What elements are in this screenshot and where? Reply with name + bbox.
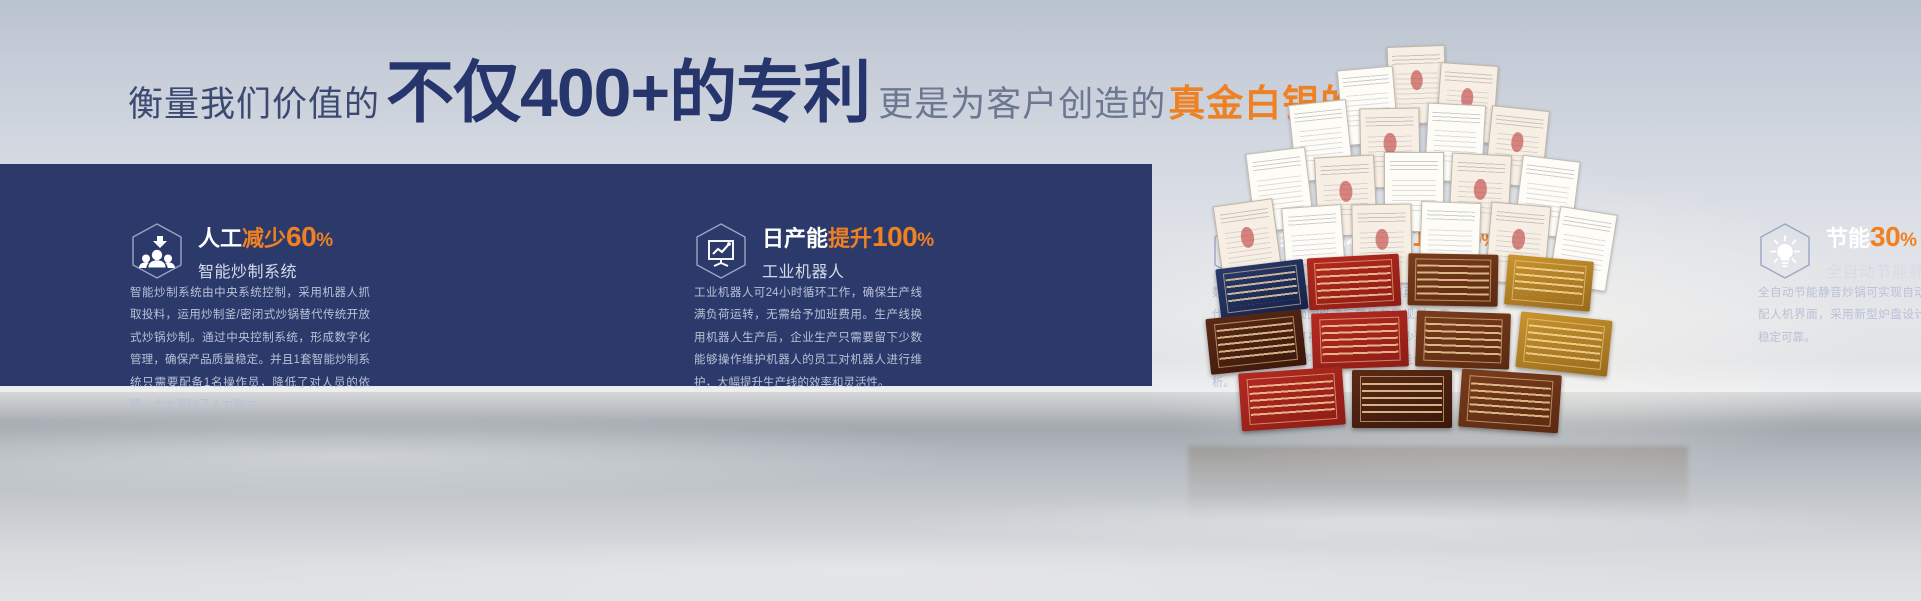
metric-number: 100 xyxy=(872,221,917,252)
feature-card-capacity: 日产能提升100% 工业机器人 工业机器人可24小时循环工作，确保生产线满负荷运… xyxy=(576,164,834,386)
award-plaque xyxy=(1352,370,1452,428)
award-plaque xyxy=(1458,369,1562,434)
feature-card-header: 节能30% 全自动节能静音炒锅 xyxy=(1758,220,1921,282)
feature-description: 全自动节能静音炒锅可实现自动控温控时，搭配人机界面，采用新型炉盘设计，操作简单、… xyxy=(1758,282,1921,349)
people-group-icon xyxy=(130,222,184,280)
award-plaque xyxy=(1205,309,1306,375)
certificate-and-award-plaque-wall: certificate-and-award-plaque-wall xyxy=(1188,46,1688,446)
metric-word: 提升 xyxy=(828,226,872,251)
headline-middle: 更是为客户创造的 xyxy=(878,76,1166,127)
metric-prefix: 人工 xyxy=(198,226,242,251)
award-plaque xyxy=(1504,254,1594,311)
award-plaque xyxy=(1311,310,1409,369)
metric-number: 60 xyxy=(286,221,316,252)
feature-card-text: 人工减少60% 智能炒制系统 xyxy=(198,220,333,282)
banner-stage: 衡量我们价值的 不仅400+的专利 更是为客户创造的 真金白银的效益 xyxy=(0,0,1921,601)
award-plaque xyxy=(1415,310,1511,369)
metric-word: 减少 xyxy=(242,226,286,251)
headline-emphasis: 不仅400+的专利 xyxy=(386,62,870,125)
page-title: 衡量我们价值的 不仅400+的专利 更是为客户创造的 真金白银的效益 xyxy=(128,62,1228,140)
feature-description: 工业机器人可24小时循环工作，确保生产线满负荷运转，无需给予加班费用。生产线换用… xyxy=(694,282,922,394)
award-plaque xyxy=(1307,254,1402,311)
lightbulb-icon xyxy=(1758,222,1812,280)
metric-number: 30 xyxy=(1870,221,1900,252)
feature-card-header: 日产能提升100% 工业机器人 xyxy=(694,220,934,282)
feature-metric: 日产能提升100% xyxy=(762,226,934,251)
feature-subtitle: 全自动节能静音炒锅 xyxy=(1826,258,1921,282)
award-plaque xyxy=(1238,366,1346,431)
feature-metric: 节能30% xyxy=(1826,226,1917,251)
feature-card-labor: 人工减少60% 智能炒制系统 智能炒制系统由中央系统控制，采用机器人抓取投料，运… xyxy=(0,164,288,386)
feature-subtitle: 工业机器人 xyxy=(762,258,934,282)
award-plaque xyxy=(1408,253,1499,307)
metric-prefix: 日产能 xyxy=(762,226,828,251)
chart-board-icon xyxy=(694,222,748,280)
metric-prefix: 节能 xyxy=(1826,226,1870,251)
feature-card-text: 日产能提升100% 工业机器人 xyxy=(762,220,934,282)
feature-metric: 人工减少60% xyxy=(198,226,333,251)
metric-unit: % xyxy=(1900,230,1917,251)
metric-unit: % xyxy=(917,230,934,251)
feature-subtitle: 智能炒制系统 xyxy=(198,258,333,282)
certificate-wall-label: certificate-and-award-plaque-wall xyxy=(1188,46,1189,47)
headline-prefix: 衡量我们价值的 xyxy=(128,76,380,127)
feature-card-list: 人工减少60% 智能炒制系统 智能炒制系统由中央系统控制，采用机器人抓取投料，运… xyxy=(0,164,1152,386)
feature-card-text: 节能30% 全自动节能静音炒锅 xyxy=(1826,220,1921,282)
feature-card-header: 人工减少60% 智能炒制系统 xyxy=(130,220,333,282)
features-panel: 人工减少60% 智能炒制系统 智能炒制系统由中央系统控制，采用机器人抓取投料，运… xyxy=(0,164,1152,386)
feature-card-energy: 节能30% 全自动节能静音炒锅 全自动节能静音炒锅可实现自动控温控时，搭配人机界… xyxy=(1648,164,1921,386)
award-plaque xyxy=(1515,311,1612,376)
feature-description: 智能炒制系统由中央系统控制，采用机器人抓取投料，运用炒制釜/密闭式炒锅替代传统开… xyxy=(130,282,370,417)
metric-unit: % xyxy=(316,230,333,251)
